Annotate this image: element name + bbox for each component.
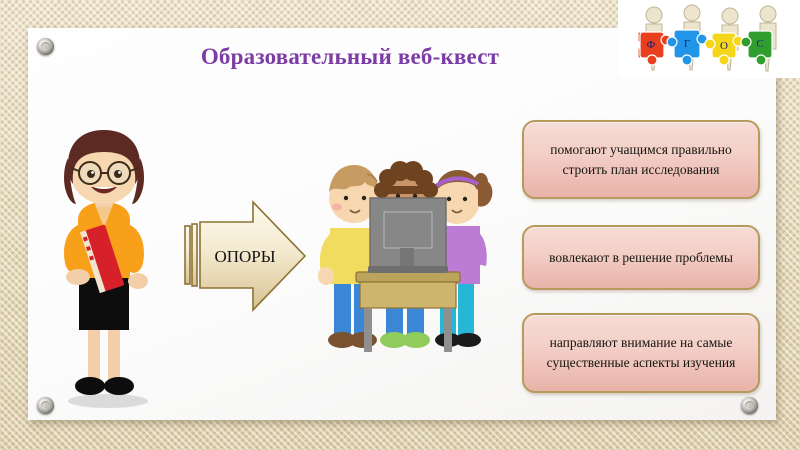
fgos-logo-panel: Ф Г О С bbox=[618, 0, 800, 78]
logo-letter-1: Ф bbox=[647, 39, 656, 51]
students-at-computer-illustration bbox=[312, 152, 502, 360]
teacher-character-illustration bbox=[38, 125, 168, 410]
slide-title: Образовательный веб-квест bbox=[120, 44, 580, 70]
logo-letter-3: О bbox=[720, 40, 728, 52]
logo-letter-4: С bbox=[756, 38, 763, 50]
rivet-bottom-right-icon bbox=[741, 397, 758, 414]
rivet-top-left-icon bbox=[37, 38, 54, 55]
callout-box-3: направляют внимание на самые существенны… bbox=[522, 313, 760, 393]
slide-canvas: Ф Г О С Образовательный веб-квест bbox=[0, 0, 800, 450]
callout-box-2: вовлекают в решение проблемы bbox=[522, 225, 760, 290]
logo-letter-2: Г bbox=[684, 38, 690, 50]
supports-arrow: ОПОРЫ bbox=[183, 196, 311, 316]
arrow-label: ОПОРЫ bbox=[214, 247, 275, 266]
callout-box-1: помогают учащимся правильно строить план… bbox=[522, 120, 760, 199]
fgos-puzzle-logo-icon: Ф Г О С bbox=[630, 2, 790, 74]
